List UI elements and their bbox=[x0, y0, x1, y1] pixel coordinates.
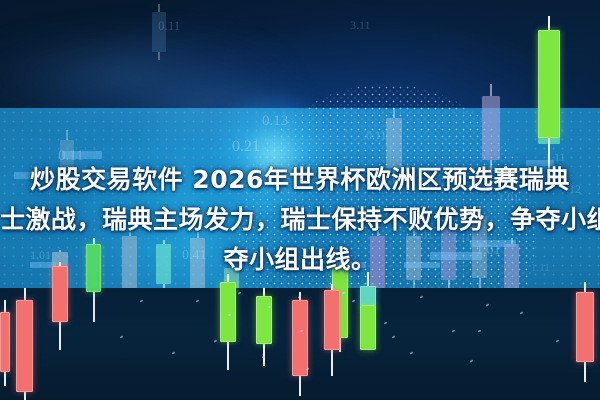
candle-body bbox=[16, 300, 33, 392]
headline-line-1: 炒股交易软件 2026年世界杯欧洲区预选赛瑞典 bbox=[0, 160, 600, 200]
candle-body bbox=[482, 96, 500, 160]
candlestick-up bbox=[538, 16, 560, 172]
candlestick-down bbox=[292, 292, 308, 396]
candle-body bbox=[220, 282, 236, 342]
price-number: 0.11 bbox=[158, 18, 180, 34]
candle-body bbox=[360, 305, 376, 350]
price-number: 0.11 bbox=[366, 128, 387, 143]
headline-line-3: 夺小组出线。 bbox=[0, 240, 600, 280]
candlestick-down bbox=[0, 300, 10, 386]
candle-body bbox=[256, 296, 272, 344]
candlestick-down bbox=[576, 282, 594, 382]
price-number: 0.13 bbox=[262, 113, 288, 130]
headline-line-2: 士激战，瑞典主场发力，瑞士保持不败优势，争夺小组 bbox=[0, 200, 600, 240]
candlestick-up bbox=[360, 305, 376, 350]
promo-banner: 0.110.110.130.210.113.111.110.121.011.01… bbox=[0, 0, 600, 400]
price-number: 0.21 bbox=[232, 138, 260, 156]
candlestick-up bbox=[256, 288, 272, 366]
candlestick-down bbox=[324, 284, 340, 376]
candle-body bbox=[292, 300, 308, 376]
candlestick-down bbox=[16, 288, 33, 400]
candlestick-up bbox=[220, 274, 236, 370]
tick-mark bbox=[62, 151, 102, 159]
price-number: 3.11 bbox=[350, 18, 371, 33]
headline-text: 炒股交易软件 2026年世界杯欧洲区预选赛瑞典 士激战，瑞典主场发力，瑞士保持不… bbox=[0, 160, 600, 280]
candle-body bbox=[324, 290, 340, 350]
candle-body bbox=[576, 292, 594, 362]
candle-body bbox=[538, 30, 560, 138]
candle-body bbox=[0, 312, 10, 372]
